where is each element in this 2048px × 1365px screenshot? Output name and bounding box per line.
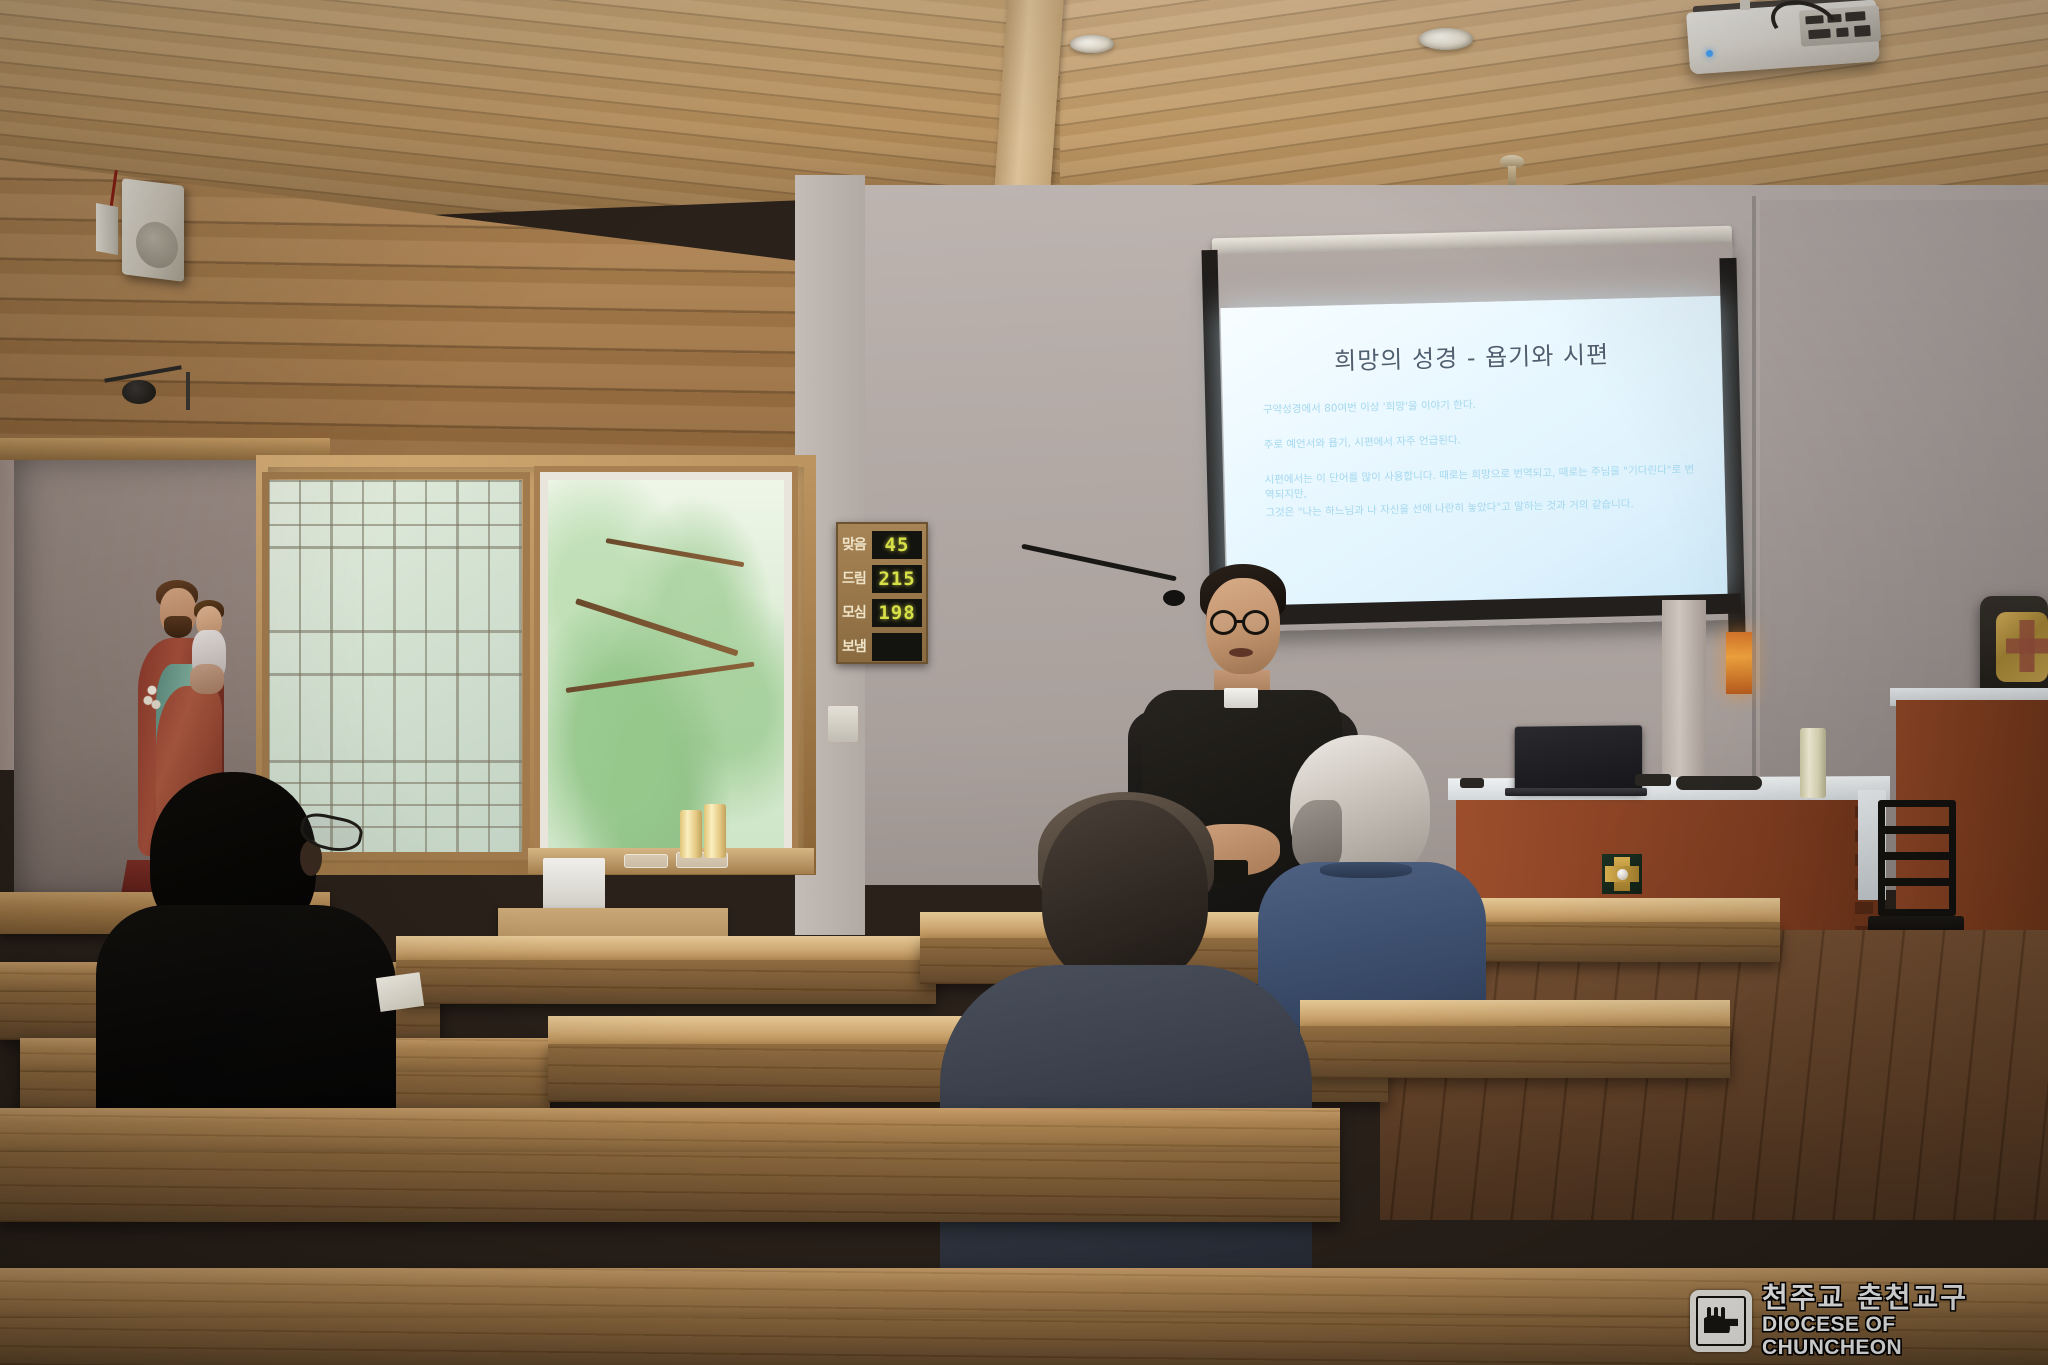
counter-row: 모심 198 — [842, 597, 922, 628]
chair-slat — [1885, 852, 1949, 860]
projector-ceiling-rod — [1740, 0, 1750, 10]
pew-bench — [1300, 1026, 1730, 1078]
attendee-center-head — [1042, 800, 1208, 986]
laptop-screen[interactable] — [1515, 725, 1642, 793]
diocese-seal-inner — [1696, 1296, 1746, 1346]
priest-mouth — [1229, 648, 1253, 657]
watermark-english: DIOCESE OF CHUNCHEON — [1762, 1313, 2040, 1359]
ceiling-downlight — [1419, 28, 1473, 50]
projector-power-led — [1706, 50, 1713, 57]
pew-bench-front — [0, 1108, 1340, 1152]
chair-slat — [1885, 878, 1949, 886]
counter-label: 드림 — [842, 572, 870, 586]
counter-value: 215 — [872, 565, 922, 593]
glass-window-with-pine-tree-view — [546, 478, 784, 850]
shoji-paper-panel — [268, 480, 522, 852]
pew-bench — [396, 960, 936, 1004]
pew-bench-front — [0, 1152, 1340, 1222]
desk-cable-bundle — [1676, 776, 1762, 790]
eyeglasses-bridge — [1236, 620, 1245, 623]
wall-microphone-head — [122, 380, 156, 404]
counter-label: 보냄 — [842, 640, 870, 654]
slide-line: 구약성경에서 80여번 이상 '희망'을 이야기 한다. — [1263, 392, 1699, 417]
counter-row: 보냄 — [842, 631, 922, 662]
counter-value: 45 — [872, 531, 922, 559]
ceiling-downlight — [1070, 35, 1114, 53]
pew-bench-top — [396, 936, 936, 960]
roman-collar — [1224, 688, 1258, 708]
attendee-right-collar — [1320, 862, 1412, 878]
pew-bench-top — [1300, 1000, 1730, 1026]
desk-remote — [1635, 774, 1671, 786]
votive-candle — [704, 804, 726, 858]
altar-candle — [1800, 728, 1826, 798]
candle-tray — [624, 854, 668, 868]
counter-row: 드림 215 — [842, 563, 922, 594]
watermark-korean: 천주교 춘천교구 — [1762, 1283, 2040, 1312]
cross-icon — [2006, 620, 2048, 672]
laptop-keyboard-base[interactable] — [1505, 788, 1647, 796]
diocese-seal-icon — [1690, 1290, 1752, 1352]
desk-small-item — [1460, 778, 1484, 788]
eyeglasses-left-lens — [1210, 610, 1237, 635]
statue-lily-flowers — [142, 680, 162, 714]
diocese-watermark: 천주교 춘천교구 DIOCESE OF CHUNCHEON — [1690, 1283, 2040, 1359]
chair-slat — [1885, 826, 1949, 834]
boom-microphone-head — [1163, 590, 1185, 606]
handout-paper — [376, 972, 424, 1012]
slide-line: 주로 예언서와 욥기, 시편에서 자주 언급된다. — [1264, 428, 1700, 453]
attendee-right-hair-side — [1292, 800, 1342, 870]
pew-bench-top — [1460, 898, 1780, 922]
slide-body: 구약성경에서 80여번 이상 '희망'을 이야기 한다. 주로 예언서와 욥기,… — [1263, 392, 1702, 540]
slide-title: 희망의 성경 - 욥기와 시편 — [1221, 332, 1722, 379]
eyeglasses-right-lens — [1242, 610, 1269, 635]
attendee-front-left-body — [96, 905, 396, 1115]
offering-counter-board: 맞음 45 드림 215 모심 198 보냄 — [836, 522, 928, 664]
counter-value: 198 — [872, 599, 922, 627]
counter-row: 맞음 45 — [842, 529, 922, 560]
wall-microphone-pole — [186, 372, 190, 410]
wall-outlet — [828, 706, 858, 742]
altar-cross-center-gem — [1617, 869, 1628, 880]
statue-beard — [164, 616, 192, 638]
counter-label: 모심 — [842, 606, 870, 620]
sanctuary-lamp — [1726, 632, 1752, 694]
photo-scene: 맞음 45 드림 215 모심 198 보냄 희망의 성경 - 욥기와 시편 구… — [0, 0, 2048, 1365]
pew-bench — [1460, 922, 1780, 962]
watermark-text-block: 천주교 춘천교구 DIOCESE OF CHUNCHEON — [1762, 1283, 2040, 1359]
child-jesus-legs — [190, 664, 224, 694]
counter-value — [872, 633, 922, 661]
white-container-on-sill — [543, 858, 605, 910]
counter-label: 맞음 — [842, 538, 870, 552]
seal-emblem-shape — [1704, 1309, 1738, 1333]
speaker-bracket — [96, 203, 118, 255]
votive-candle — [680, 810, 702, 858]
